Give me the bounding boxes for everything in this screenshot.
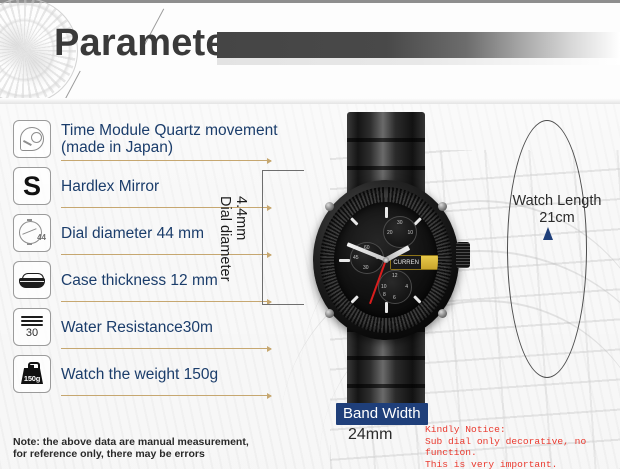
spec-label-hardlex-line1: Hardlex Mirror [61, 178, 159, 195]
watch-product-image: 30 20 10 60 45 15 30 12 10 8 4 6 [296, 112, 476, 412]
watch-crown [456, 242, 470, 268]
dial-dimension-line [262, 170, 263, 304]
bezel-screw [325, 202, 334, 211]
watch-length-ellipse [507, 120, 587, 378]
spec-underline-water-resistance [61, 348, 271, 349]
dial-dimension-value: 4.4mm [233, 196, 249, 240]
subdial-top-tick-20: 20 [387, 230, 393, 236]
bezel-screw [438, 309, 447, 318]
hardlex-s-icon: S [13, 167, 51, 205]
subdial-bottom-tick-8: 8 [383, 292, 386, 298]
subdial-top-tick-10: 10 [407, 230, 413, 236]
header-bottom-edge [0, 98, 620, 104]
watch-movement-icon [13, 120, 51, 158]
hardlex-s-icon-text: S [23, 173, 41, 200]
watch-brand-tag-text: CURREN [391, 256, 421, 269]
dial-dimension-name: Dial diameter [217, 196, 233, 281]
spec-item-case-thickness: Case thickness 12 mm [13, 261, 313, 302]
band-width-label: Band Width [336, 403, 428, 425]
dial-diameter-icon: 44 [13, 214, 51, 252]
spec-label-weight-line1: Watch the weight 150g [61, 366, 218, 383]
subdial-bottom-tick-10: 10 [381, 284, 387, 290]
subdial-top-tick-30: 30 [397, 220, 403, 226]
header-gradient-bar-shadow [217, 58, 620, 65]
spec-underline-weight [61, 395, 271, 396]
spec-item-water-resistance: 30 Water Resistance30m [13, 308, 313, 349]
dial-diameter-icon-text: 44 [37, 233, 46, 242]
spec-label-water-resistance-line1: Water Resistance30m [61, 319, 213, 336]
dial-dimension-label: 4.4mm Dial diameter [233, 196, 249, 316]
spec-label-movement: Time Module Quartz movement (made in Jap… [61, 122, 278, 156]
water-resistance-icon-text: 30 [19, 327, 45, 339]
measurement-note: Note: the above data are manual measurem… [13, 437, 263, 460]
spec-label-weight: Watch the weight 150g [61, 366, 218, 383]
spec-label-case-thickness: Case thickness 12 mm [61, 272, 218, 289]
watch-weight-icon: 150g [13, 355, 51, 393]
center-pin [383, 257, 389, 263]
measurement-note-line2: for reference only, there may be errors [13, 449, 263, 461]
spec-item-dial-diameter: 44 Dial diameter 44 mm [13, 214, 313, 255]
subdial-bottom-tick-12: 12 [392, 273, 398, 279]
dial-dimension-tick-top [262, 170, 304, 171]
watch-case: 30 20 10 60 45 15 30 12 10 8 4 6 [313, 180, 459, 340]
spec-item-movement: Time Module Quartz movement (made in Jap… [13, 120, 313, 161]
measurement-note-line1: Note: the above data are manual measurem… [13, 437, 263, 449]
page-title: Parameter [54, 22, 242, 65]
bezel-screw [438, 202, 447, 211]
kindly-notice-line3: This is very important. [425, 459, 620, 469]
dial-dimension-tick-bottom [262, 304, 304, 305]
subdial-top: 30 20 10 [383, 216, 417, 248]
watch-length-label-text: Watch Length [497, 193, 617, 210]
watch-dial: 30 20 10 60 45 15 30 12 10 8 4 6 [334, 202, 438, 318]
subdial-bottom: 12 10 8 4 6 [378, 270, 412, 304]
spec-label-hardlex: Hardlex Mirror [61, 178, 159, 195]
spec-list: Time Module Quartz movement (made in Jap… [13, 120, 313, 402]
spec-label-movement-line2: (made in Japan) [61, 139, 278, 156]
watch-length-arrow-icon [543, 227, 553, 240]
kindly-notice-line2: Sub dial only decorative, no function. [425, 436, 620, 459]
spec-label-water-resistance: Water Resistance30m [61, 319, 213, 336]
header-top-rule [0, 0, 620, 3]
spec-underline-movement [61, 160, 271, 161]
header-gradient-bar [217, 32, 620, 58]
subdial-bottom-tick-6: 6 [393, 295, 396, 301]
subdial-bottom-tick-4: 4 [405, 284, 408, 290]
band-width-value: 24mm [348, 426, 392, 444]
product-parameter-page: Parameter Time Module Quartz movement (m… [0, 0, 620, 469]
watch-weight-icon-text: 150g [19, 374, 45, 383]
watch-brand-tag: CURREN [390, 255, 438, 270]
spec-item-weight: 150g Watch the weight 150g [13, 355, 313, 396]
case-thickness-icon [13, 261, 51, 299]
watch-length-label: Watch Length 21cm [497, 193, 617, 226]
subdial-left-tick-45: 45 [353, 255, 359, 261]
spec-item-hardlex: S Hardlex Mirror [13, 167, 313, 208]
spec-label-dial-diameter: Dial diameter 44 mm [61, 225, 204, 242]
spec-label-movement-line1: Time Module Quartz movement [61, 122, 278, 139]
spec-label-dial-diameter-line1: Dial diameter 44 mm [61, 225, 204, 242]
kindly-notice-line1: Kindly Notice: [425, 424, 620, 436]
kindly-notice: Kindly Notice: Sub dial only decorative,… [425, 424, 620, 469]
page-header: Parameter [0, 0, 620, 103]
water-resistance-icon: 30 [13, 308, 51, 346]
bezel-screw [325, 309, 334, 318]
subdial-left-tick-30: 30 [363, 265, 369, 271]
spec-label-case-thickness-line1: Case thickness 12 mm [61, 272, 218, 289]
watch-length-value: 21cm [497, 210, 617, 227]
